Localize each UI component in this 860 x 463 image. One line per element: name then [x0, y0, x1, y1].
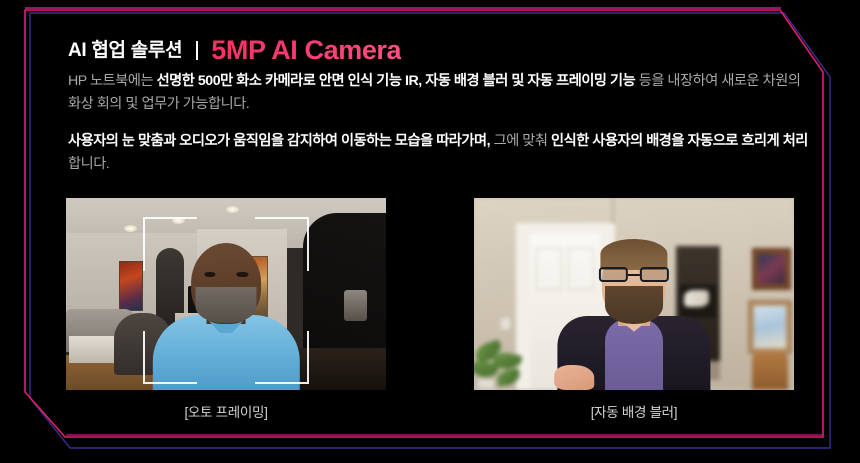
description-paragraph-1: HP 노트북에는 선명한 500만 화소 카메라로 안면 인식 기능 IR, 자… [68, 70, 808, 116]
plant-pot [478, 380, 495, 390]
framed-picture-lower-right [748, 300, 793, 354]
glasses-bridge [628, 274, 639, 276]
ceiling-light-icon [226, 206, 239, 213]
slide-content: AI 협업 솔루션 5MP AI Camera HP 노트북에는 선명한 500… [0, 0, 860, 463]
framing-bracket-top-left-icon [143, 217, 197, 271]
photo-background-blur [474, 198, 794, 390]
media-item-background-blur: [자동 배경 블러] [474, 198, 794, 421]
home-office-scene [474, 198, 794, 390]
ceiling-light-icon [124, 225, 137, 232]
caption-background-blur: [자동 배경 블러] [474, 401, 794, 421]
coffee-table [69, 336, 120, 363]
para2-tail: 합니다. [68, 156, 109, 172]
para1-lead: HP 노트북에는 [68, 73, 157, 89]
title-eyebrow: AI 협업 솔루션 [68, 41, 182, 60]
living-room-scene [66, 198, 386, 390]
description-paragraph-2: 사용자의 눈 맞춤과 오디오가 움직임을 감지하여 이동하는 모습을 따라가며,… [68, 130, 808, 176]
potted-plant [474, 329, 538, 390]
para2-mid: 그에 맞춰 [490, 133, 551, 149]
framing-bracket-bottom-right-icon [255, 331, 309, 385]
framing-bracket-bottom-left-icon [143, 331, 197, 385]
person-eye-right [236, 272, 248, 277]
framed-picture-lower-right-art [754, 306, 787, 348]
person-beard [195, 287, 257, 323]
person-eye-left [204, 272, 216, 277]
person-hand [554, 365, 594, 390]
plant-leaf [496, 369, 521, 387]
caption-auto-framing: [오토 프레이밍] [66, 401, 386, 421]
para2-emphasis-1: 사용자의 눈 맞춤과 오디오가 움직임을 감지하여 이동하는 모습을 따라가며, [68, 133, 490, 149]
framing-bracket-top-right-icon [255, 217, 309, 271]
wall-art-left [119, 261, 143, 311]
wooden-chair [752, 352, 787, 390]
page-title: AI 협업 솔루션 5MP AI Camera [68, 33, 401, 67]
para2-emphasis-2: 인식한 사용자의 배경을 자동으로 흐리게 처리 [551, 133, 808, 149]
person-subject [557, 236, 711, 390]
glasses-lens-right [640, 267, 670, 282]
eyeglasses-icon [599, 267, 670, 282]
floor-lamp [344, 290, 366, 321]
para1-emphasis: 선명한 500만 화소 카메라로 안면 인식 기능 IR, 자동 배경 블러 및… [157, 73, 636, 89]
person-hair [600, 239, 668, 270]
framed-picture-upper-right-art [758, 254, 784, 284]
media-row: [오토 프레이밍] [0, 198, 860, 421]
person-beard [605, 286, 663, 324]
framed-picture-upper-right [752, 248, 790, 290]
title-main: 5MP AI Camera [211, 37, 401, 64]
glasses-lens-left [599, 267, 629, 282]
title-divider-bar [196, 41, 198, 60]
media-item-auto-framing: [오토 프레이밍] [66, 198, 386, 421]
photo-auto-framing [66, 198, 386, 390]
